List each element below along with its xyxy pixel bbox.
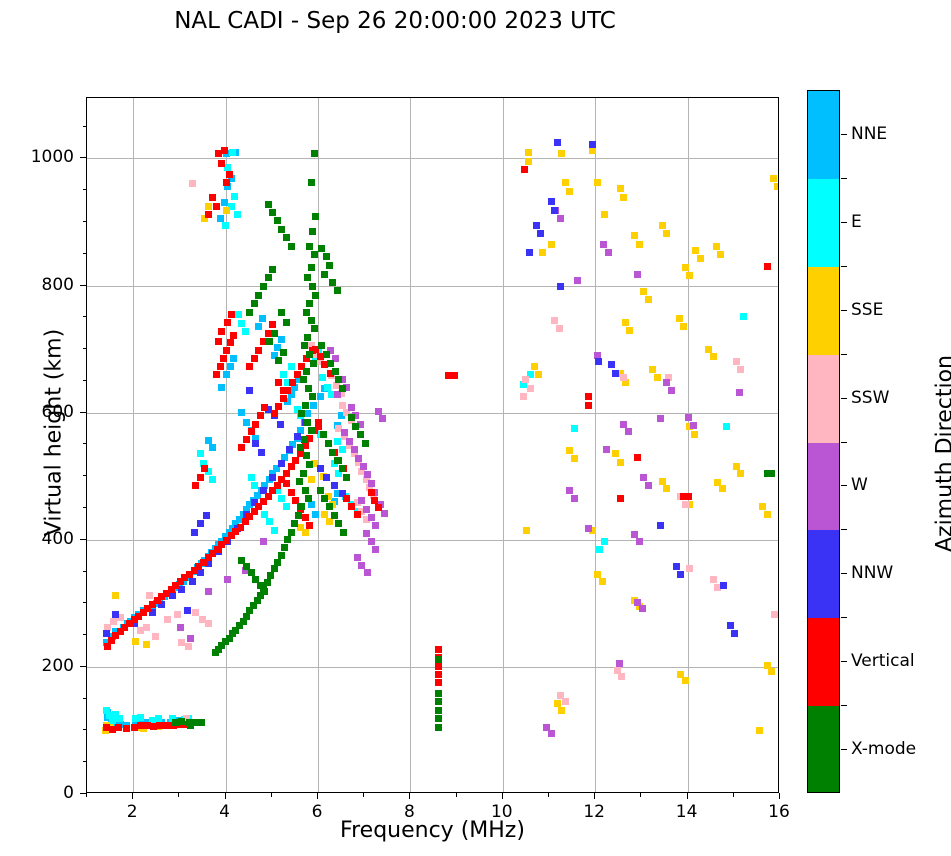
data-point <box>348 414 355 421</box>
data-point <box>566 447 573 454</box>
data-point <box>617 185 624 192</box>
data-point <box>269 474 276 481</box>
data-point <box>531 363 538 370</box>
data-point <box>112 592 119 599</box>
data-point <box>375 408 382 415</box>
data-point <box>281 544 288 551</box>
x-tick-minor <box>548 793 549 797</box>
data-point <box>685 493 692 500</box>
data-point <box>340 529 347 536</box>
data-point <box>571 455 578 462</box>
x-tick-minor <box>456 793 457 797</box>
data-point <box>574 277 581 284</box>
data-point <box>435 663 442 670</box>
data-point <box>227 339 234 346</box>
data-point <box>309 283 316 290</box>
data-point <box>379 415 386 422</box>
data-point <box>692 247 699 254</box>
data-point <box>323 474 330 481</box>
data-point <box>355 455 362 462</box>
data-point <box>309 228 316 235</box>
y-tick <box>80 157 86 158</box>
data-point <box>317 465 324 472</box>
data-point <box>217 363 224 370</box>
data-point <box>152 633 159 640</box>
data-point <box>278 309 285 316</box>
data-point <box>710 576 717 583</box>
data-point <box>691 431 698 438</box>
data-point <box>238 409 245 416</box>
x-tick-minor <box>733 793 734 797</box>
data-point <box>311 251 318 258</box>
gridline-horizontal <box>87 158 778 159</box>
data-point <box>223 207 230 214</box>
y-tick-minor <box>83 443 87 444</box>
y-tick-minor <box>83 729 87 730</box>
data-point <box>191 529 198 536</box>
data-point <box>278 336 285 343</box>
data-point <box>680 323 687 330</box>
y-tick <box>80 539 86 540</box>
data-point <box>381 510 388 517</box>
data-point <box>261 588 268 595</box>
data-point <box>585 525 592 532</box>
data-point <box>221 147 228 154</box>
data-point <box>362 440 369 447</box>
plot-area[interactable] <box>86 97 779 793</box>
data-point <box>445 372 452 379</box>
data-point <box>740 313 747 320</box>
data-point <box>640 474 647 481</box>
data-point <box>302 402 309 409</box>
data-point <box>298 410 305 417</box>
data-point <box>246 363 253 370</box>
data-point <box>301 342 308 349</box>
data-point <box>283 503 290 510</box>
data-point <box>213 203 220 210</box>
data-point <box>659 478 666 485</box>
data-point <box>537 230 544 237</box>
y-tick-minor <box>83 380 87 381</box>
data-point <box>305 385 312 392</box>
data-point <box>301 436 308 443</box>
data-point <box>243 419 250 426</box>
data-point <box>768 668 775 675</box>
data-point <box>246 387 253 394</box>
data-point <box>302 514 309 521</box>
data-point <box>556 325 563 332</box>
data-point <box>768 470 775 477</box>
data-point <box>363 506 370 513</box>
colorbar-label-nne: NNE <box>851 124 887 144</box>
data-point <box>269 266 276 273</box>
data-point <box>238 320 245 327</box>
data-point <box>368 489 375 496</box>
data-point <box>668 387 675 394</box>
data-point <box>304 274 311 281</box>
data-point <box>144 722 151 729</box>
data-point <box>636 241 643 248</box>
data-point <box>146 592 153 599</box>
data-point <box>371 497 378 504</box>
data-point <box>617 495 624 502</box>
data-point <box>261 511 268 518</box>
data-point <box>213 371 220 378</box>
data-point <box>736 389 743 396</box>
data-point <box>220 355 227 362</box>
data-point <box>331 512 338 519</box>
data-point <box>280 395 287 402</box>
data-point <box>645 482 652 489</box>
data-point <box>317 393 324 400</box>
data-point <box>705 346 712 353</box>
data-point <box>319 374 326 381</box>
y-tick <box>80 793 86 794</box>
data-point <box>242 328 249 335</box>
data-point <box>558 707 565 714</box>
data-point <box>318 342 325 349</box>
data-point <box>594 179 601 186</box>
colorbar-boundary-tick <box>841 178 847 179</box>
data-point <box>288 243 295 250</box>
ionogram-figure: NAL CADI - Sep 26 20:00:00 2023 UTC 2468… <box>0 0 951 856</box>
data-point <box>203 512 210 519</box>
data-point <box>770 175 777 182</box>
data-point <box>321 271 328 278</box>
data-point <box>164 616 171 623</box>
data-point <box>227 363 234 370</box>
data-point <box>197 569 204 576</box>
data-point <box>639 605 646 612</box>
colorbar-band-vertical[interactable] <box>808 618 839 706</box>
colorbar-tick <box>841 485 847 486</box>
colorbar-label-e: E <box>851 212 862 232</box>
data-point <box>308 427 315 434</box>
y-tick <box>80 285 86 286</box>
data-point <box>451 372 458 379</box>
colorbar-band-sse[interactable] <box>808 267 839 355</box>
data-point <box>562 179 569 186</box>
data-point <box>104 643 111 650</box>
data-point <box>435 671 442 678</box>
colorbar-band-nnw[interactable] <box>808 530 839 618</box>
data-point <box>339 446 346 453</box>
x-tick <box>594 793 595 799</box>
data-point <box>223 347 230 354</box>
y-tick-label: 0 <box>2 783 74 803</box>
data-point <box>192 482 199 489</box>
data-point <box>327 360 334 367</box>
data-point <box>205 620 212 627</box>
data-point <box>640 288 647 295</box>
data-point <box>608 361 615 368</box>
data-point <box>205 211 212 218</box>
data-point <box>174 611 181 618</box>
y-tick-minor <box>83 126 87 127</box>
data-point <box>554 139 561 146</box>
data-point <box>634 454 641 461</box>
data-point <box>251 355 258 362</box>
data-point <box>631 232 638 239</box>
data-point <box>308 179 315 186</box>
colorbar-tick <box>841 134 847 135</box>
data-point <box>737 470 744 477</box>
colorbar-band-e[interactable] <box>808 179 839 267</box>
data-point <box>334 287 341 294</box>
data-point <box>326 518 333 525</box>
data-point <box>298 503 305 510</box>
data-point <box>771 611 778 618</box>
data-point <box>280 349 287 356</box>
x-tick <box>779 793 780 799</box>
data-point <box>657 522 664 529</box>
data-point <box>300 376 307 383</box>
data-point <box>308 476 315 483</box>
data-point <box>265 274 272 281</box>
data-point <box>300 470 307 477</box>
data-point <box>280 371 287 378</box>
data-point <box>205 203 212 210</box>
data-point <box>659 222 666 229</box>
data-point <box>435 690 442 697</box>
data-point <box>317 487 324 494</box>
data-point <box>731 630 738 637</box>
data-point <box>283 470 290 477</box>
data-point <box>230 332 237 339</box>
data-point <box>266 338 273 345</box>
data-point <box>325 440 332 447</box>
colorbar-tick <box>841 398 847 399</box>
data-point <box>243 436 250 443</box>
data-point <box>339 402 346 409</box>
data-point <box>288 363 295 370</box>
colorbar-boundary-tick <box>841 617 847 618</box>
data-point <box>278 226 285 233</box>
data-point <box>527 385 534 392</box>
data-point <box>280 387 287 394</box>
data-point <box>343 495 350 502</box>
data-point <box>329 449 336 456</box>
data-point <box>115 724 122 731</box>
data-point <box>625 428 632 435</box>
data-point <box>224 319 231 326</box>
data-point <box>677 571 684 578</box>
data-point <box>209 194 216 201</box>
data-point <box>184 607 191 614</box>
data-point <box>697 255 704 262</box>
data-point <box>226 171 233 178</box>
data-point <box>605 249 612 256</box>
data-point <box>291 520 298 527</box>
data-point <box>673 563 680 570</box>
data-point <box>230 355 237 362</box>
data-point <box>566 188 573 195</box>
x-tick <box>687 793 688 799</box>
data-point <box>368 514 375 521</box>
data-point <box>288 489 295 496</box>
data-point <box>311 325 318 332</box>
data-point <box>649 366 656 373</box>
colorbar-band-ssw[interactable] <box>808 355 839 443</box>
y-tick-minor <box>83 602 87 603</box>
data-point <box>335 376 342 383</box>
data-point <box>185 643 192 650</box>
data-point <box>596 546 603 553</box>
data-point <box>310 360 317 367</box>
data-point <box>269 209 276 216</box>
data-point <box>329 279 336 286</box>
data-point <box>255 347 262 354</box>
x-tick <box>132 793 133 799</box>
data-point <box>261 404 268 411</box>
data-point <box>205 437 212 444</box>
data-point <box>271 330 278 337</box>
data-point <box>525 158 532 165</box>
y-axis-label: Virtual height (km) <box>42 283 67 583</box>
data-point <box>717 251 724 258</box>
data-point <box>364 569 371 576</box>
data-point <box>636 538 643 545</box>
data-point <box>189 180 196 187</box>
colorbar-boundary-tick <box>841 266 847 267</box>
data-point <box>595 358 602 365</box>
data-point <box>321 511 328 518</box>
colorbar-tick <box>841 749 847 750</box>
data-point <box>255 292 262 299</box>
gridline-horizontal <box>87 413 778 414</box>
data-point <box>178 586 185 593</box>
data-point <box>634 271 641 278</box>
data-point <box>626 327 633 334</box>
y-tick-minor <box>83 634 87 635</box>
data-point <box>435 715 442 722</box>
data-point <box>435 646 442 653</box>
y-tick-label: 200 <box>2 656 74 676</box>
y-tick-minor <box>83 571 87 572</box>
data-point <box>601 538 608 545</box>
colorbar-band-x-mode[interactable] <box>808 706 839 793</box>
data-point <box>271 565 278 572</box>
x-tick <box>225 793 226 799</box>
colorbar-tick <box>841 222 847 223</box>
data-point <box>358 497 365 504</box>
page-title: NAL CADI - Sep 26 20:00:00 2023 UTC <box>0 8 790 34</box>
data-point <box>585 393 592 400</box>
data-point <box>676 315 683 322</box>
data-point <box>187 635 194 642</box>
y-tick-label: 1000 <box>2 147 74 167</box>
data-point <box>269 321 276 328</box>
data-point <box>617 459 624 466</box>
data-point <box>525 149 532 156</box>
data-point <box>178 718 185 725</box>
data-point <box>331 482 338 489</box>
data-point <box>132 638 139 645</box>
data-point <box>246 309 253 316</box>
data-point <box>308 317 315 324</box>
data-point <box>533 222 540 229</box>
colorbar-label-nnw: NNW <box>851 563 893 583</box>
data-point <box>764 263 771 270</box>
data-point <box>251 482 258 489</box>
data-point <box>231 193 238 200</box>
data-point <box>323 253 330 260</box>
data-point <box>288 463 295 470</box>
data-point <box>601 211 608 218</box>
data-point <box>277 421 284 428</box>
colorbar-boundary-tick <box>841 354 847 355</box>
x-tick <box>317 793 318 799</box>
gridline-vertical <box>318 98 319 792</box>
data-point <box>334 438 341 445</box>
data-point <box>435 698 442 705</box>
data-point <box>654 374 661 381</box>
data-point <box>764 511 771 518</box>
data-point <box>198 719 205 726</box>
data-point <box>348 404 355 411</box>
data-point <box>435 679 442 686</box>
colorbar-label: Azimuth Direction <box>933 289 951 619</box>
data-point <box>351 446 358 453</box>
data-point <box>257 412 264 419</box>
data-point <box>252 440 259 447</box>
data-point <box>218 384 225 391</box>
colorbar-band-nne[interactable] <box>808 91 839 179</box>
data-point <box>260 538 267 545</box>
data-point <box>645 296 652 303</box>
data-point <box>435 656 442 663</box>
colorbar-boundary-tick <box>841 529 847 530</box>
data-point <box>222 222 229 229</box>
data-point <box>335 520 342 527</box>
gridline-horizontal <box>87 540 778 541</box>
data-point <box>551 317 558 324</box>
data-point <box>354 511 361 518</box>
data-point <box>278 460 285 467</box>
data-point <box>548 198 555 205</box>
data-point <box>612 450 619 457</box>
data-point <box>252 421 259 428</box>
data-point <box>274 559 281 566</box>
data-point <box>143 624 150 631</box>
data-point <box>320 431 327 438</box>
data-point <box>123 725 130 732</box>
data-point <box>259 315 266 322</box>
data-point <box>212 649 219 656</box>
data-point <box>112 611 119 618</box>
data-point <box>360 463 367 470</box>
data-point <box>197 474 204 481</box>
data-point <box>283 319 290 326</box>
data-point <box>600 241 607 248</box>
colorbar[interactable] <box>807 90 840 793</box>
data-point <box>283 234 290 241</box>
data-point <box>295 512 302 519</box>
data-point <box>296 478 303 485</box>
colorbar-band-w[interactable] <box>808 443 839 531</box>
data-point <box>289 379 296 386</box>
data-point <box>341 429 348 436</box>
colorbar-label-sse: SSE <box>851 300 883 320</box>
data-point <box>318 245 325 252</box>
data-point <box>733 358 740 365</box>
data-point <box>566 487 573 494</box>
data-point <box>657 415 664 422</box>
data-point <box>526 249 533 256</box>
data-point <box>248 428 255 435</box>
data-point <box>663 379 670 386</box>
colorbar-tick <box>841 573 847 574</box>
